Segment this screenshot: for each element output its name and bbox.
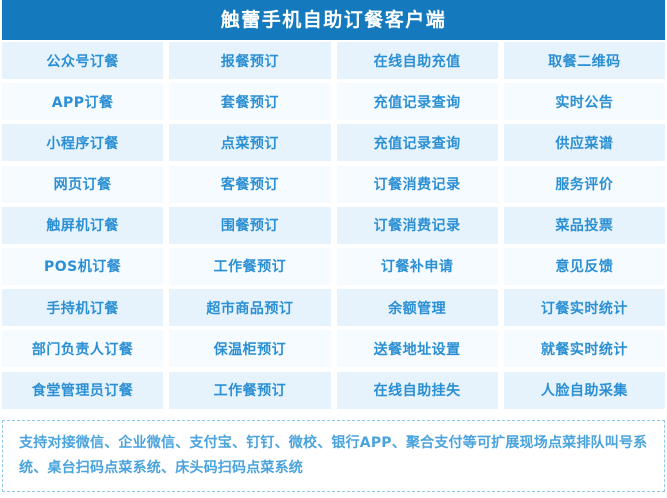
grid-row: 小程序订餐点菜预订充值记录查询供应菜谱 <box>2 124 665 165</box>
feature-cell[interactable]: 订餐补申请 <box>337 248 498 285</box>
grid-row: 手持机订餐超市商品预订余额管理订餐实时统计 <box>2 289 665 330</box>
feature-cell[interactable]: 在线自助挂失 <box>337 372 498 409</box>
feature-cell[interactable]: 超市商品预订 <box>169 289 330 326</box>
footer-note-box: 支持对接微信、企业微信、支付宝、钉钉、微校、银行APP、聚合支付等可扩展现场点菜… <box>2 420 665 492</box>
feature-cell[interactable]: 公众号订餐 <box>2 42 163 79</box>
feature-cell[interactable]: 工作餐预订 <box>169 372 330 409</box>
feature-cell[interactable]: 服务评价 <box>504 166 665 203</box>
feature-cell[interactable]: 食堂管理员订餐 <box>2 372 163 409</box>
feature-cell[interactable]: 客餐预订 <box>169 166 330 203</box>
feature-cell[interactable]: 供应菜谱 <box>504 124 665 161</box>
footer-area: 支持对接微信、企业微信、支付宝、钉钉、微校、银行APP、聚合支付等可扩展现场点菜… <box>2 413 665 498</box>
feature-cell[interactable]: 就餐实时统计 <box>504 330 665 367</box>
feature-cell[interactable]: APP订餐 <box>2 83 163 120</box>
feature-cell[interactable]: 实时公告 <box>504 83 665 120</box>
feature-cell[interactable]: 保温柜预订 <box>169 330 330 367</box>
app-root: 触蕾手机自助订餐客户端 公众号订餐报餐预订在线自助充值取餐二维码APP订餐套餐预… <box>0 0 667 498</box>
feature-cell[interactable]: 部门负责人订餐 <box>2 330 163 367</box>
app-header: 触蕾手机自助订餐客户端 <box>2 0 665 40</box>
footer-note-text: 支持对接微信、企业微信、支付宝、钉钉、微校、银行APP、聚合支付等可扩展现场点菜… <box>19 431 650 480</box>
grid-row: 网页订餐客餐预订订餐消费记录服务评价 <box>2 166 665 207</box>
feature-cell[interactable]: POS机订餐 <box>2 248 163 285</box>
feature-cell[interactable]: 取餐二维码 <box>504 42 665 79</box>
feature-cell[interactable]: 网页订餐 <box>2 166 163 203</box>
feature-cell[interactable]: 套餐预订 <box>169 83 330 120</box>
feature-grid: 公众号订餐报餐预订在线自助充值取餐二维码APP订餐套餐预订充值记录查询实时公告小… <box>2 40 665 413</box>
feature-cell[interactable]: 订餐消费记录 <box>337 207 498 244</box>
feature-cell[interactable]: 手持机订餐 <box>2 289 163 326</box>
grid-row: 公众号订餐报餐预订在线自助充值取餐二维码 <box>2 42 665 83</box>
grid-row: 部门负责人订餐保温柜预订送餐地址设置就餐实时统计 <box>2 330 665 371</box>
feature-cell[interactable]: 余额管理 <box>337 289 498 326</box>
feature-cell[interactable]: 充值记录查询 <box>337 83 498 120</box>
page-title: 触蕾手机自助订餐客户端 <box>221 11 447 30</box>
feature-cell[interactable]: 小程序订餐 <box>2 124 163 161</box>
feature-cell[interactable]: 触屏机订餐 <box>2 207 163 244</box>
feature-cell[interactable]: 订餐消费记录 <box>337 166 498 203</box>
feature-cell[interactable]: 订餐实时统计 <box>504 289 665 326</box>
feature-cell[interactable]: 在线自助充值 <box>337 42 498 79</box>
feature-cell[interactable]: 点菜预订 <box>169 124 330 161</box>
grid-row: APP订餐套餐预订充值记录查询实时公告 <box>2 83 665 124</box>
feature-cell[interactable]: 充值记录查询 <box>337 124 498 161</box>
feature-cell[interactable]: 工作餐预订 <box>169 248 330 285</box>
feature-cell[interactable]: 围餐预订 <box>169 207 330 244</box>
feature-cell[interactable]: 人脸自助采集 <box>504 372 665 409</box>
grid-row: 触屏机订餐围餐预订订餐消费记录菜品投票 <box>2 207 665 248</box>
grid-row: 食堂管理员订餐工作餐预订在线自助挂失人脸自助采集 <box>2 372 665 413</box>
feature-cell[interactable]: 送餐地址设置 <box>337 330 498 367</box>
grid-row: POS机订餐工作餐预订订餐补申请意见反馈 <box>2 248 665 289</box>
feature-cell[interactable]: 意见反馈 <box>504 248 665 285</box>
feature-cell[interactable]: 菜品投票 <box>504 207 665 244</box>
feature-cell[interactable]: 报餐预订 <box>169 42 330 79</box>
